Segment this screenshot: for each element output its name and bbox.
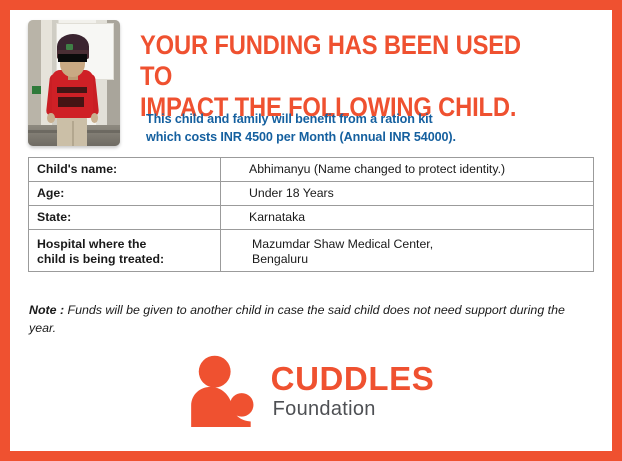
photo-exit-sign: [32, 86, 41, 95]
page-title: Your funding has been used to impact the…: [140, 30, 540, 123]
logo-wordmark: CUDDLES Foundation: [271, 362, 435, 419]
header-section: Your funding has been used to impact the…: [10, 10, 612, 148]
row-label-child-name: Child's name:: [29, 158, 221, 182]
row-value-hospital-line1: Mazumdar Shaw Medical Center,: [252, 237, 593, 252]
photo-child-left-hand: [47, 113, 54, 123]
photo-child-right-hand: [91, 113, 98, 123]
photo-child-legs-gap: [72, 121, 74, 146]
table-row: Age: Under 18 Years: [29, 182, 594, 206]
row-label-age: Age:: [29, 182, 221, 206]
photo-child-beanie-logo: [66, 44, 73, 50]
row-value-state: Karnataka: [221, 206, 594, 230]
child-photo: [28, 20, 120, 146]
row-value-child-name: Abhimanyu (Name changed to protect ident…: [221, 158, 594, 182]
subtitle-line-2: which costs INR 4500 per Month (Annual I…: [146, 129, 596, 147]
disclaimer-note: Note : Funds will be given to another ch…: [29, 301, 589, 337]
photo-shirt-print-line2: [58, 97, 84, 107]
logo-title: CUDDLES: [271, 362, 435, 395]
row-value-hospital: Mazumdar Shaw Medical Center, Bengaluru: [221, 230, 594, 272]
note-prefix: Note :: [29, 303, 64, 317]
logo-subtitle: Foundation: [273, 399, 435, 419]
row-value-hospital-line2: Bengaluru: [252, 252, 593, 267]
subtitle-line-1: This child and family will benefit from …: [146, 111, 596, 129]
funding-subtitle: This child and family will benefit from …: [146, 111, 596, 146]
row-label-hospital: Hospital where the child is being treate…: [29, 230, 221, 272]
photo-shirt-print-line1: [57, 87, 87, 93]
row-label-state: State:: [29, 206, 221, 230]
parent-and-child-icon: [188, 355, 258, 427]
child-details-table: Child's name: Abhimanyu (Name changed to…: [28, 157, 594, 272]
cuddles-foundation-logo: CUDDLES Foundation: [10, 348, 612, 433]
privacy-eye-mask: [58, 54, 87, 62]
row-value-age: Under 18 Years: [221, 182, 594, 206]
table-row: Hospital where the child is being treate…: [29, 230, 594, 272]
table-row: State: Karnataka: [29, 206, 594, 230]
note-text: Funds will be given to another child in …: [29, 303, 565, 335]
headline-line-1: Your funding has been used to: [140, 30, 540, 92]
row-label-hospital-line1: Hospital where the: [37, 237, 220, 252]
table-row: Child's name: Abhimanyu (Name changed to…: [29, 158, 594, 182]
certificate-card: Your funding has been used to impact the…: [0, 0, 622, 461]
row-label-hospital-line2: child is being treated:: [37, 252, 220, 267]
